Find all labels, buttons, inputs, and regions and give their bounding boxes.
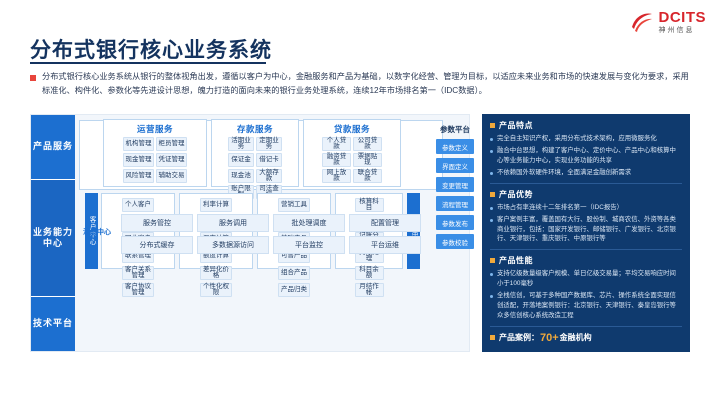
platform-cell[interactable]: 平台监控 <box>273 236 345 254</box>
section-product-advantages: 产品优势 市场占有率连续十二年排名第一（IDC报告） 客户案例丰富，覆盖国有大行… <box>490 189 682 245</box>
section-marker-icon <box>490 335 495 340</box>
case-label: 产品案例： <box>499 332 539 343</box>
page-title: 分布式银行核心业务系统 <box>30 34 272 64</box>
section-item: 完全自主知识产权，采用分布式技术架构，应用微服务化 <box>497 134 657 144</box>
param-button-verify[interactable]: 参数校验 <box>436 234 474 249</box>
section-item: 市场占有率连续十二年排名第一（IDC报告） <box>497 203 623 213</box>
case-suffix: 金融机构 <box>560 332 592 343</box>
diagram-body: 运营服务 机构管理 柜员管理 现金管理 凭证管理 风险管理 辅助交易 存款服务 … <box>75 115 469 351</box>
platform-cell[interactable]: 批处理调度 <box>273 214 345 232</box>
section-title: 产品特点 <box>499 120 533 131</box>
block-technical-platform: 注册中心 服务管控 服务调用 批处理调度 配置管理 分布式缓存 多数据源访问 平… <box>79 120 443 190</box>
parameter-platform-title: 参数平台 <box>434 124 476 135</box>
brand-text: DCITS 神州信息 <box>659 10 707 34</box>
platform-cell[interactable]: 分布式缓存 <box>121 236 193 254</box>
architecture-diagram: 产品服务 业务能力中心 技术平台 运营服务 机构管理 柜员管理 现金管理 凭证管… <box>30 114 470 352</box>
section-marker-icon <box>490 123 495 128</box>
brand-cn: 神州信息 <box>659 27 707 34</box>
param-button-publish[interactable]: 参数发布 <box>436 215 474 230</box>
diagram-left-column: 产品服务 业务能力中心 技术平台 <box>31 115 75 351</box>
section-marker-icon <box>490 258 495 263</box>
swoosh-logo-icon <box>629 10 655 36</box>
bullet-icon <box>490 138 493 141</box>
divider <box>490 249 682 250</box>
registry-center-label: 注册中心 <box>75 115 119 351</box>
product-case-line: 产品案例： 70+ 金融机构 <box>490 332 682 344</box>
brand-en: DCITS <box>659 10 707 25</box>
left-section-product: 产品服务 <box>31 115 75 180</box>
divider <box>490 183 682 184</box>
left-section-platform: 技术平台 <box>31 297 75 351</box>
param-button-ui-define[interactable]: 界面定义 <box>436 158 474 173</box>
parameter-platform-column: 参数平台 参数定义 界面定义 变更管理 流程管理 参数发布 参数校验 <box>434 124 476 253</box>
bullet-icon <box>490 295 493 298</box>
section-product-features: 产品特点 完全自主知识产权，采用分布式技术架构，应用微服务化 融合中台思想，构建… <box>490 120 682 178</box>
section-title: 产品优势 <box>499 189 533 200</box>
section-product-performance: 产品性能 支持亿级数量级客户规模、单日亿级交易量；平均交易响应时间小于100毫秒… <box>490 255 682 321</box>
bullet-icon <box>490 219 493 222</box>
left-section-capability: 业务能力中心 <box>31 180 75 297</box>
section-marker-icon <box>490 192 495 197</box>
divider <box>490 326 682 327</box>
section-item: 融合中台思想，构建了客户中心、定价中心、产品中心和核算中心等业务能力中心，实现业… <box>497 146 682 166</box>
platform-cell[interactable]: 服务调用 <box>197 214 269 232</box>
param-button-change-mgmt[interactable]: 变更管理 <box>436 177 474 192</box>
bullet-icon <box>490 273 493 276</box>
param-button-define[interactable]: 参数定义 <box>436 139 474 154</box>
section-item: 支持亿级数量级客户规模、单日亿级交易量；平均交易响应时间小于100毫秒 <box>497 269 682 289</box>
platform-cell[interactable]: 多数据源访问 <box>197 236 269 254</box>
bullet-icon <box>490 172 493 175</box>
platform-cell[interactable]: 配置管理 <box>349 214 421 232</box>
section-item: 全栈信创，可基于多种国产数据库、芯片、操作系统全面实现信创适配，开落地案例银行：… <box>497 291 682 321</box>
bullet-icon <box>490 150 493 153</box>
param-button-process-mgmt[interactable]: 流程管理 <box>436 196 474 211</box>
section-title: 产品性能 <box>499 255 533 266</box>
intro-text: 分布式银行核心业务系统从银行的整体视角出发，遵循以客户为中心，金融服务和产品为基… <box>42 70 690 99</box>
slide-page: DCITS 神州信息 分布式银行核心业务系统 分布式银行核心业务系统从银行的整体… <box>0 0 720 405</box>
intro-bullet-icon <box>30 75 36 81</box>
brand-logo: DCITS 神州信息 <box>629 10 707 36</box>
case-number: 70+ <box>540 332 559 344</box>
bullet-icon <box>490 207 493 210</box>
section-item: 客户案例丰富，覆盖国有大行、股份制、城商农信、外资等各类商业银行，包括：国家开发… <box>497 215 682 245</box>
right-info-panel: 产品特点 完全自主知识产权，采用分布式技术架构，应用微服务化 融合中台思想，构建… <box>482 114 690 352</box>
title-underline <box>30 62 266 64</box>
section-item: 不依赖国外软硬件环境，全面满足金融创新需求 <box>497 168 631 178</box>
platform-cell[interactable]: 平台运维 <box>349 236 421 254</box>
platform-cell[interactable]: 服务管控 <box>121 214 193 232</box>
intro-block: 分布式银行核心业务系统从银行的整体视角出发，遵循以客户为中心，金融服务和产品为基… <box>30 70 690 99</box>
